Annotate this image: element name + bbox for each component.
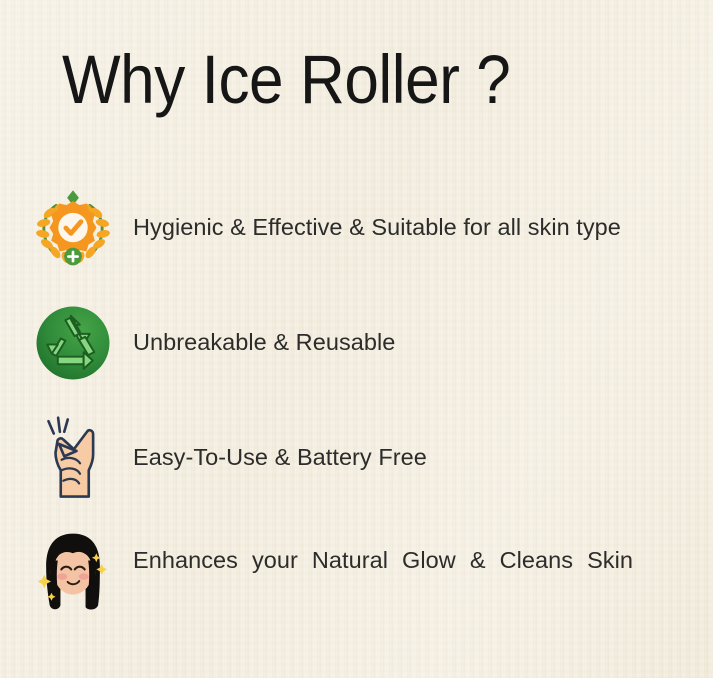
- feature-label: Easy-To-Use & Battery Free: [133, 400, 693, 515]
- feature-item: Hygienic & Effective & Suitable for all …: [0, 170, 713, 285]
- finger-snap-hand-icon: [30, 400, 116, 515]
- feature-label: Hygienic & Effective & Suitable for all …: [133, 170, 693, 285]
- feature-item: Easy-To-Use & Battery Free: [0, 400, 713, 515]
- feature-list: Hygienic & Effective & Suitable for all …: [0, 170, 713, 630]
- why-ice-roller-poster: Why Ice Roller ?: [0, 0, 713, 678]
- feature-label: Enhances your Natural Glow & Cleans Skin: [133, 515, 633, 659]
- quality-badge-wreath-icon: [30, 170, 116, 285]
- feature-item: Enhances your Natural Glow & Cleans Skin: [0, 515, 713, 630]
- feature-label: Unbreakable & Reusable: [133, 285, 693, 400]
- feature-item: Unbreakable & Reusable: [0, 285, 713, 400]
- glowing-face-icon: [30, 515, 116, 630]
- page-title: Why Ice Roller ?: [62, 41, 510, 119]
- recycle-icon: [30, 285, 116, 400]
